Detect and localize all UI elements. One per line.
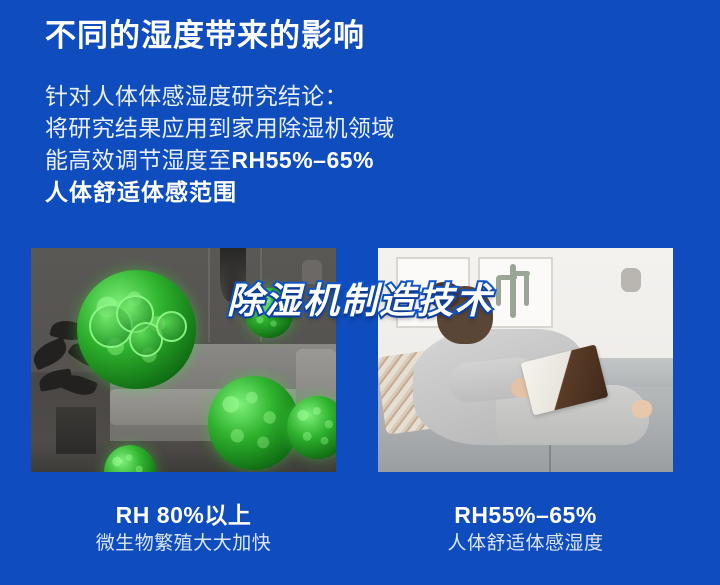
microbe-sphere [245,288,294,337]
caption-left-subtitle: 微生物繁殖大大加快 [31,530,336,558]
cactus-icon [513,271,530,276]
intro-line-2: 将研究结果应用到家用除湿机领域 [45,112,515,144]
wall-speaker-icon [621,268,641,292]
photo-comfort-humidity [378,248,673,472]
intro-line-3: 能高效调节湿度至RH55%–65% [45,144,515,176]
caption-right-subtitle: 人体舒适体感湿度 [378,530,673,558]
intro-paragraph: 针对人体体感湿度研究结论： 将研究结果应用到家用除湿机领域 能高效调节湿度至RH… [45,80,515,208]
cactus-icon [524,272,529,306]
cactus-icon [497,275,517,280]
photo-high-humidity [31,248,336,472]
cactus-icon [496,276,501,306]
plant-pot [56,407,96,454]
person-hair-bun [428,282,460,309]
caption-left: RH 80%以上 微生物繁殖大大加快 [31,500,336,558]
wall-knob-icon [302,260,322,284]
person-foot [632,400,653,418]
microbe-sphere [287,396,336,459]
page-title: 不同的湿度带来的影响 [45,17,365,54]
leaf [31,336,71,370]
caption-right-title: RH55%–65% [378,500,673,530]
poster-root: 不同的湿度带来的影响 针对人体体感湿度研究结论： 将研究结果应用到家用除湿机领域… [0,0,720,585]
pendant-lamp-icon [220,248,246,302]
caption-right: RH55%–65% 人体舒适体感湿度 [378,500,673,558]
microbe-spore [156,311,187,342]
intro-line-3-range: RH55%–65% [231,147,374,173]
caption-left-title: RH 80%以上 [31,500,336,530]
microbe-sphere [208,376,300,470]
intro-line-1: 针对人体体感湿度研究结论： [45,80,515,112]
wall-seam-icon [208,248,210,342]
intro-line-3-lead: 能高效调节湿度至 [45,147,231,173]
intro-line-4: 人体舒适体感范围 [45,176,515,208]
